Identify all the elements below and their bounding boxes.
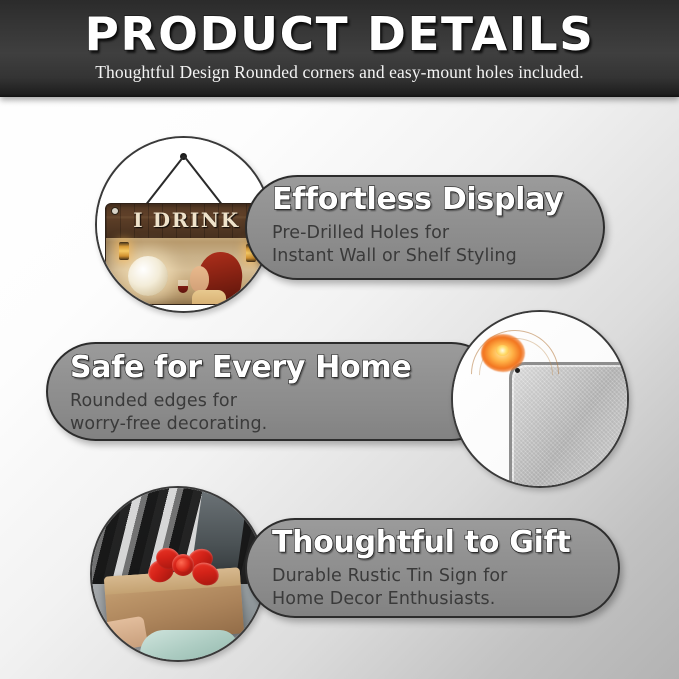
header-subtitle: Thoughtful Design Rounded corners and ea… — [0, 62, 679, 83]
tin-sign-plate: I DRINK — [105, 203, 268, 305]
header-banner: PRODUCT DETAILS Thoughtful Design Rounde… — [0, 0, 679, 97]
receiver-sweater — [140, 630, 238, 662]
wine-glass-graphic — [178, 280, 188, 293]
gift-handoff-photo — [92, 488, 264, 660]
woman-face-graphic — [190, 266, 209, 292]
feature-title-safe-for-every-home: Safe for Every Home — [70, 350, 411, 385]
feature-title-thoughtful-to-gift: Thoughtful to Gift — [272, 525, 570, 560]
rounded-corner-photo — [453, 312, 627, 486]
red-ribbon-bow-icon — [148, 546, 218, 592]
page-title: PRODUCT DETAILS — [0, 7, 679, 61]
feature-body-safe-for-every-home: Rounded edges for worry-free decorating. — [70, 390, 267, 436]
feature-body-thoughtful-to-gift: Durable Rustic Tin Sign for Home Decor E… — [272, 565, 507, 611]
hanging-cord-left — [145, 155, 185, 205]
feature-body-line-1: Durable Rustic Tin Sign for — [272, 565, 507, 588]
feature-title-effortless-display: Effortless Display — [272, 182, 563, 217]
product-details-infographic: PRODUCT DETAILS Thoughtful Design Rounde… — [0, 0, 679, 679]
feature-body-line-2: Instant Wall or Shelf Styling — [272, 245, 517, 268]
feature-image-safe-for-every-home — [451, 310, 629, 488]
feature-body-line-2: Home Decor Enthusiasts. — [272, 588, 507, 611]
feature-body-line-1: Rounded edges for — [70, 390, 267, 413]
lantern-icon-left — [119, 242, 129, 260]
feature-image-thoughtful-to-gift — [90, 486, 266, 662]
spark-highlight-icon — [496, 345, 509, 356]
hanging-cord-right — [183, 155, 223, 205]
sign-headline-text: I DRINK — [106, 208, 267, 232]
feature-body-line-1: Pre-Drilled Holes for — [272, 222, 517, 245]
feature-body-line-2: worry-free decorating. — [70, 413, 267, 436]
bow-knot — [176, 558, 191, 572]
moon-graphic — [128, 256, 168, 296]
feature-body-effortless-display: Pre-Drilled Holes for Instant Wall or Sh… — [272, 222, 517, 268]
woman-body-graphic — [192, 290, 226, 305]
